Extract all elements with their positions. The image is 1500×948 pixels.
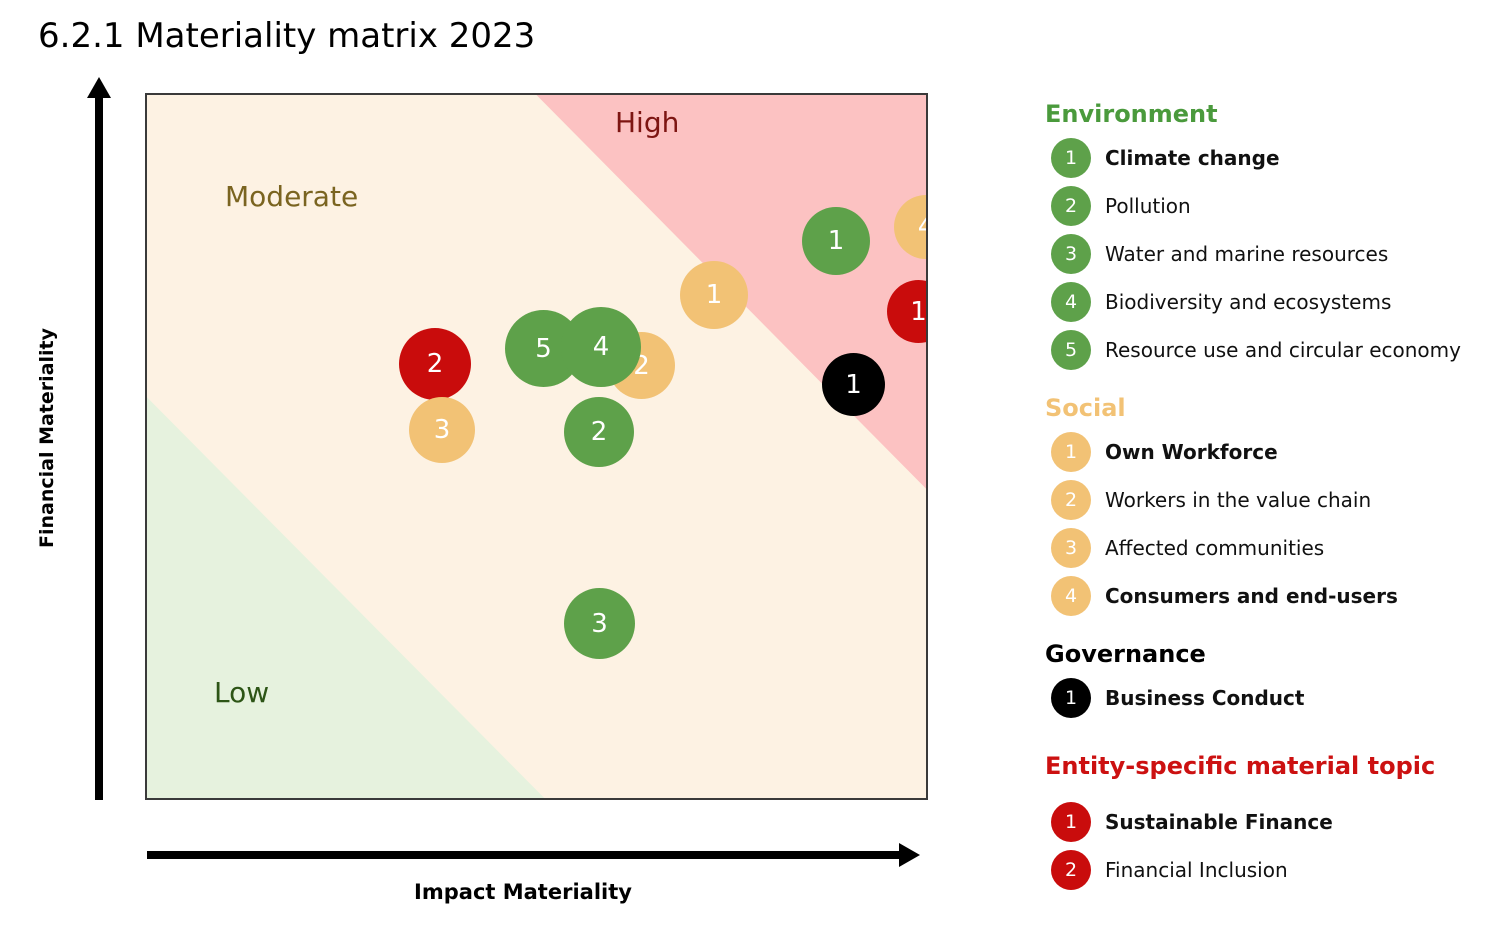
legend-spacer-1 bbox=[1045, 374, 1485, 394]
legend-heading-entity: Entity-specific material topic bbox=[1045, 752, 1485, 780]
zone-label-high: High bbox=[615, 106, 679, 139]
bubble-gov-1[interactable]: 1 bbox=[822, 353, 885, 416]
legend-badge-icon: 3 bbox=[1051, 234, 1091, 274]
legend-item-label: Business Conduct bbox=[1105, 686, 1304, 710]
legend-badge-icon: 1 bbox=[1051, 138, 1091, 178]
legend-item-label: Water and marine resources bbox=[1105, 242, 1388, 266]
legend-group-environment: Environment 1Climate change2Pollution3Wa… bbox=[1045, 100, 1485, 374]
legend-group-governance: Governance 1Business Conduct bbox=[1045, 640, 1485, 722]
bubble-env-1[interactable]: 1 bbox=[802, 207, 870, 275]
legend-group-social: Social 1Own Workforce2Workers in the val… bbox=[1045, 394, 1485, 620]
legend-item-label: Pollution bbox=[1105, 194, 1191, 218]
legend-item-label: Own Workforce bbox=[1105, 440, 1278, 464]
legend-spacer-2 bbox=[1045, 620, 1485, 640]
legend-items-governance: 1Business Conduct bbox=[1045, 674, 1485, 722]
legend-badge-icon: 5 bbox=[1051, 330, 1091, 370]
y-axis-label: Financial Materiality bbox=[36, 338, 58, 548]
legend: Environment 1Climate change2Pollution3Wa… bbox=[1045, 100, 1485, 894]
x-axis-arrow bbox=[147, 851, 899, 859]
legend-item-label: Resource use and circular economy bbox=[1105, 338, 1461, 362]
legend-badge-icon: 1 bbox=[1051, 678, 1091, 718]
legend-group-entity: Entity-specific material topic 1Sustaina… bbox=[1045, 752, 1485, 894]
legend-item-social-3[interactable]: 3Affected communities bbox=[1045, 524, 1485, 572]
legend-item-label: Climate change bbox=[1105, 146, 1280, 170]
legend-heading-governance: Governance bbox=[1045, 640, 1485, 668]
y-axis-arrow bbox=[95, 96, 103, 800]
legend-item-label: Financial Inclusion bbox=[1105, 858, 1288, 882]
bubble-env-3[interactable]: 3 bbox=[564, 588, 635, 659]
legend-spacer-4 bbox=[1045, 786, 1485, 798]
legend-item-entity-2[interactable]: 2Financial Inclusion bbox=[1045, 846, 1485, 894]
legend-item-environment-2[interactable]: 2Pollution bbox=[1045, 182, 1485, 230]
bubble-soc-1[interactable]: 1 bbox=[680, 261, 748, 329]
plot-area: High Moderate Low 141112254323 bbox=[145, 93, 928, 800]
legend-item-entity-1[interactable]: 1Sustainable Finance bbox=[1045, 798, 1485, 846]
legend-badge-icon: 2 bbox=[1051, 850, 1091, 890]
legend-item-label: Workers in the value chain bbox=[1105, 488, 1371, 512]
legend-badge-icon: 4 bbox=[1051, 282, 1091, 322]
legend-item-label: Consumers and end-users bbox=[1105, 584, 1398, 608]
legend-items-social: 1Own Workforce2Workers in the value chai… bbox=[1045, 428, 1485, 620]
legend-badge-icon: 1 bbox=[1051, 802, 1091, 842]
legend-item-label: Affected communities bbox=[1105, 536, 1324, 560]
legend-item-social-2[interactable]: 2Workers in the value chain bbox=[1045, 476, 1485, 524]
legend-item-environment-4[interactable]: 4Biodiversity and ecosystems bbox=[1045, 278, 1485, 326]
legend-item-environment-1[interactable]: 1Climate change bbox=[1045, 134, 1485, 182]
bubble-env-2[interactable]: 2 bbox=[564, 397, 634, 467]
legend-badge-icon: 4 bbox=[1051, 576, 1091, 616]
legend-badge-icon: 1 bbox=[1051, 432, 1091, 472]
x-axis-label: Impact Materiality bbox=[147, 880, 899, 904]
legend-badge-icon: 3 bbox=[1051, 528, 1091, 568]
bubble-soc-3[interactable]: 3 bbox=[409, 397, 475, 463]
legend-items-entity: 1Sustainable Finance2Financial Inclusion bbox=[1045, 798, 1485, 894]
legend-heading-environment: Environment bbox=[1045, 100, 1485, 128]
legend-spacer-3 bbox=[1045, 722, 1485, 752]
legend-item-label: Sustainable Finance bbox=[1105, 810, 1333, 834]
legend-item-governance-1[interactable]: 1Business Conduct bbox=[1045, 674, 1485, 722]
zone-label-low: Low bbox=[214, 676, 269, 709]
legend-items-environment: 1Climate change2Pollution3Water and mari… bbox=[1045, 134, 1485, 374]
materiality-matrix-chart: Financial Materiality Impact Materiality… bbox=[0, 0, 1010, 948]
legend-heading-social: Social bbox=[1045, 394, 1485, 422]
legend-item-label: Biodiversity and ecosystems bbox=[1105, 290, 1391, 314]
legend-item-environment-5[interactable]: 5Resource use and circular economy bbox=[1045, 326, 1485, 374]
zone-label-moderate: Moderate bbox=[225, 180, 358, 213]
bubble-ent-2[interactable]: 2 bbox=[399, 328, 471, 400]
bubble-env-4[interactable]: 4 bbox=[561, 307, 641, 387]
legend-item-social-4[interactable]: 4Consumers and end-users bbox=[1045, 572, 1485, 620]
legend-badge-icon: 2 bbox=[1051, 186, 1091, 226]
legend-item-environment-3[interactable]: 3Water and marine resources bbox=[1045, 230, 1485, 278]
legend-badge-icon: 2 bbox=[1051, 480, 1091, 520]
legend-item-social-1[interactable]: 1Own Workforce bbox=[1045, 428, 1485, 476]
